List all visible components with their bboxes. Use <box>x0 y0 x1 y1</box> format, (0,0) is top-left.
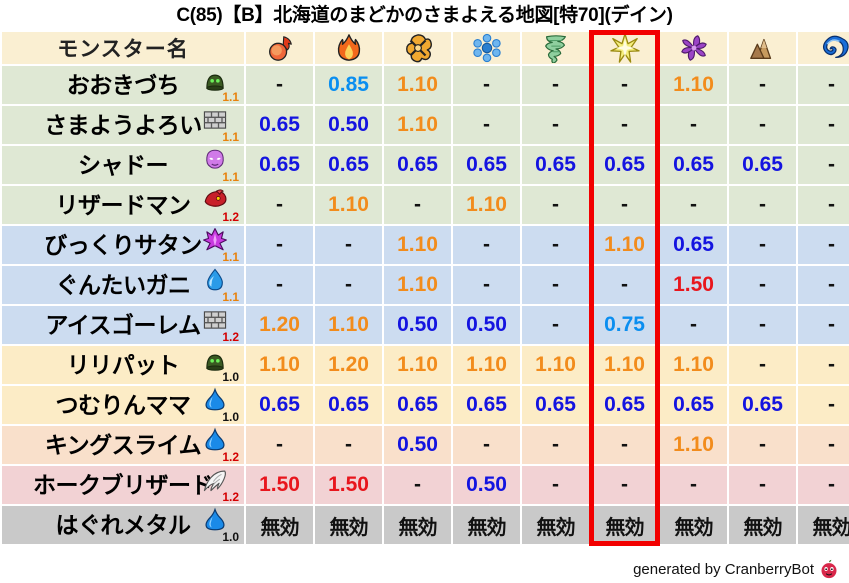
resistance-cell: 0.65 <box>591 386 658 424</box>
table-row: アイスゴーレム1.21.201.100.500.50-0.75--- <box>2 306 849 344</box>
resistance-cell: 0.50 <box>384 306 451 344</box>
resistance-value: 無効 <box>744 517 782 539</box>
resistance-cell: 0.65 <box>591 146 658 184</box>
resistance-cell: 1.10 <box>660 426 727 464</box>
monster-name-label: キングスライム <box>45 426 201 464</box>
resistance-value: - <box>345 433 352 456</box>
resistance-cell: 0.65 <box>729 386 796 424</box>
resistance-cell: 1.10 <box>315 186 382 224</box>
element-column-header-hyado[interactable] <box>453 32 520 64</box>
monster-name-cell[interactable]: リザードマン1.2 <box>2 186 244 224</box>
resistance-value: - <box>552 73 559 96</box>
resistance-value: - <box>828 353 835 376</box>
resistance-cell: 1.10 <box>315 306 382 344</box>
resistance-value: - <box>276 193 283 216</box>
resistance-value: - <box>828 473 835 496</box>
monster-name-header: モンスター名 <box>2 32 244 64</box>
resistance-value: - <box>621 273 628 296</box>
resistance-cell: - <box>522 466 589 504</box>
element-column-header-gira[interactable] <box>315 32 382 64</box>
resistance-value: 0.65 <box>397 153 438 176</box>
resistance-cell: - <box>798 306 849 344</box>
resistance-value: 1.10 <box>397 73 438 96</box>
resistance-cell: - <box>453 266 520 304</box>
resistance-value: 0.65 <box>466 153 507 176</box>
resistance-cell: - <box>660 186 727 224</box>
resistance-value: 1.10 <box>604 353 645 376</box>
resistance-value: - <box>621 113 628 136</box>
resistance-cell: - <box>522 226 589 264</box>
resistance-cell: - <box>315 426 382 464</box>
resistance-cell: 1.10 <box>591 346 658 384</box>
resistance-cell: - <box>660 106 727 144</box>
resistance-cell: 0.65 <box>384 146 451 184</box>
resistance-cell: 無効 <box>453 506 520 544</box>
resistance-cell: 無効 <box>729 506 796 544</box>
resistance-cell: 0.65 <box>453 146 520 184</box>
monster-name-label: リリパット <box>67 346 180 384</box>
resistance-cell: 0.85 <box>315 66 382 104</box>
resistance-value: - <box>621 473 628 496</box>
resistance-value: - <box>345 273 352 296</box>
resistance-value: - <box>759 353 766 376</box>
table-row: ぐんたいガニ1.1--1.10---1.50-- <box>2 266 849 304</box>
resistance-cell: 0.65 <box>315 146 382 184</box>
family-multiplier: 1.1 <box>222 131 239 143</box>
table-body: モンスター名おおきづち1.1-0.851.10---1.10--さまようよろい1… <box>2 32 849 544</box>
resistance-value: - <box>552 273 559 296</box>
element-column-header-dein[interactable] <box>591 32 658 64</box>
resistance-value: 0.75 <box>604 313 645 336</box>
resistance-cell: - <box>798 386 849 424</box>
page-title: C(85)【B】北海道のまどかのさまよえる地図[特70](デイン) <box>0 0 849 30</box>
family-multiplier: 1.2 <box>222 211 239 223</box>
header-row: モンスター名 <box>2 32 849 64</box>
element-column-header-jiba[interactable] <box>729 32 796 64</box>
resistance-value: - <box>621 73 628 96</box>
resistance-cell: 1.10 <box>522 346 589 384</box>
resistance-cell: - <box>729 426 796 464</box>
element-column-header-merazoma[interactable] <box>798 32 849 64</box>
resistance-value: 0.50 <box>328 113 369 136</box>
resistance-value: 1.10 <box>673 353 714 376</box>
resistance-cell: 無効 <box>315 506 382 544</box>
resistance-cell: - <box>315 226 382 264</box>
resistance-value: - <box>276 73 283 96</box>
resistance-cell: - <box>591 106 658 144</box>
resistance-cell: - <box>522 106 589 144</box>
resistance-cell: 1.10 <box>384 266 451 304</box>
resistance-value: 無効 <box>537 517 575 539</box>
resistance-cell: 0.50 <box>315 106 382 144</box>
family-multiplier: 1.2 <box>222 491 239 503</box>
resistance-cell: - <box>591 426 658 464</box>
resistance-cell: 0.65 <box>246 146 313 184</box>
resistance-value: - <box>276 433 283 456</box>
table-row: シャドー1.10.650.650.650.650.650.650.650.65- <box>2 146 849 184</box>
cranberry-icon <box>819 559 839 579</box>
monster-name-cell[interactable]: つむりんママ1.0 <box>2 386 244 424</box>
resistance-cell: 無効 <box>660 506 727 544</box>
monster-name-label: はぐれメタル <box>56 506 191 544</box>
resistance-value: - <box>414 473 421 496</box>
table-row: さまようよろい1.10.650.501.10------ <box>2 106 849 144</box>
resistance-cell: 1.10 <box>453 186 520 224</box>
resistance-cell: - <box>246 226 313 264</box>
resistance-value: - <box>828 273 835 296</box>
resistance-cell: - <box>729 266 796 304</box>
resistance-value: - <box>621 433 628 456</box>
resistance-value: 1.10 <box>604 233 645 256</box>
resistance-value: - <box>759 313 766 336</box>
resistance-cell: 1.10 <box>384 346 451 384</box>
resistance-cell: - <box>729 186 796 224</box>
resistance-value: 1.10 <box>397 113 438 136</box>
resistance-value: 1.10 <box>397 273 438 296</box>
footer-credit: generated by CranberryBot <box>633 559 839 579</box>
snowflake-icon <box>470 33 504 63</box>
resistance-value: - <box>552 113 559 136</box>
resistance-cell: - <box>729 306 796 344</box>
monster-name-label: ぐんたいガニ <box>56 266 191 304</box>
resistance-value: - <box>483 233 490 256</box>
resistance-value: - <box>828 233 835 256</box>
monster-name-label: びっくりサタン <box>44 226 202 264</box>
resistance-cell: - <box>798 226 849 264</box>
footer-text: generated by CranberryBot <box>633 561 814 578</box>
resistance-cell: 0.65 <box>453 386 520 424</box>
resistance-cell: - <box>246 186 313 224</box>
monster-family-badge: 1.2 <box>200 427 240 463</box>
light-icon <box>608 33 642 63</box>
family-multiplier: 1.0 <box>222 411 239 423</box>
table-row: びっくりサタン1.1--1.10--1.100.65-- <box>2 226 849 264</box>
resistance-cell: - <box>384 186 451 224</box>
family-multiplier: 1.0 <box>222 371 239 383</box>
resistance-value: - <box>828 153 835 176</box>
resistance-cell: - <box>522 266 589 304</box>
resistance-value: - <box>483 433 490 456</box>
resistance-cell: - <box>522 426 589 464</box>
resistance-value: - <box>759 193 766 216</box>
resistance-value: - <box>483 113 490 136</box>
monster-name-cell[interactable]: キングスライム1.2 <box>2 426 244 464</box>
resistance-value: 0.65 <box>604 153 645 176</box>
resistance-value: 1.10 <box>673 73 714 96</box>
resistance-value: 1.50 <box>328 473 369 496</box>
monster-family-badge: 1.1 <box>200 147 240 183</box>
resistance-value: 0.65 <box>742 153 783 176</box>
resistance-value: 1.10 <box>466 193 507 216</box>
resistance-value: - <box>690 313 697 336</box>
resistance-cell: - <box>798 466 849 504</box>
resistance-cell: 無効 <box>384 506 451 544</box>
resistance-cell: - <box>246 426 313 464</box>
resistance-cell: - <box>798 426 849 464</box>
resistance-cell: - <box>729 226 796 264</box>
resistance-cell: 0.65 <box>660 146 727 184</box>
monster-name-cell[interactable]: びっくりサタン1.1 <box>2 226 244 264</box>
resistance-cell: 無効 <box>522 506 589 544</box>
monster-name-label: リザードマン <box>56 186 191 224</box>
monster-family-badge: 1.2 <box>200 187 240 223</box>
monster-family-badge: 1.1 <box>200 227 240 263</box>
monster-name-cell[interactable]: おおきづち1.1 <box>2 66 244 104</box>
resistance-value: - <box>828 393 835 416</box>
resistance-value: 1.20 <box>259 313 300 336</box>
resistance-cell: - <box>729 466 796 504</box>
monster-name-label: つむりんママ <box>56 386 191 424</box>
table-row: キングスライム1.2--0.50---1.10-- <box>2 426 849 464</box>
resistance-cell: 0.65 <box>315 386 382 424</box>
resistance-value: 無効 <box>330 517 368 539</box>
element-column-header-io[interactable] <box>384 32 451 64</box>
resistance-cell: - <box>591 266 658 304</box>
resistance-value: - <box>828 73 835 96</box>
monster-name-label: おおきづち <box>67 66 180 104</box>
resistance-cell: 1.50 <box>315 466 382 504</box>
resistance-cell: 0.50 <box>384 426 451 464</box>
monster-name-cell[interactable]: ぐんたいガニ1.1 <box>2 266 244 304</box>
resistance-cell: 無効 <box>246 506 313 544</box>
resistance-value: 0.65 <box>742 393 783 416</box>
resistance-cell: - <box>453 426 520 464</box>
resistance-cell: - <box>591 66 658 104</box>
resistance-cell: 1.10 <box>384 226 451 264</box>
resistance-value: - <box>759 273 766 296</box>
resistance-cell: - <box>522 306 589 344</box>
monster-name-cell[interactable]: リリパット1.0 <box>2 346 244 384</box>
resistance-value: 0.65 <box>259 393 300 416</box>
resistance-value: - <box>759 73 766 96</box>
resistance-cell: 1.10 <box>384 106 451 144</box>
tornado-icon <box>539 33 573 63</box>
resistance-cell: - <box>729 346 796 384</box>
resistance-value: 0.65 <box>535 153 576 176</box>
resistance-value: 無効 <box>261 517 299 539</box>
resistance-value: - <box>828 433 835 456</box>
earth-icon <box>746 33 780 63</box>
monster-name-cell[interactable]: はぐれメタル1.0 <box>2 506 244 544</box>
resistance-value: - <box>759 433 766 456</box>
family-multiplier: 1.2 <box>222 451 239 463</box>
monster-family-badge: 1.1 <box>200 107 240 143</box>
resistance-cell: - <box>384 466 451 504</box>
monster-family-badge: 1.2 <box>200 467 240 503</box>
resistance-value: 0.65 <box>328 153 369 176</box>
resistance-value: 0.65 <box>604 393 645 416</box>
resistance-value: - <box>828 113 835 136</box>
monster-family-badge: 1.0 <box>200 387 240 423</box>
resistance-cell: - <box>522 66 589 104</box>
resistance-cell: 0.75 <box>591 306 658 344</box>
resistance-cell: 1.10 <box>660 66 727 104</box>
resistance-cell: 0.65 <box>522 146 589 184</box>
resistance-cell: 1.20 <box>246 306 313 344</box>
resistance-value: - <box>345 233 352 256</box>
resistance-cell: 0.65 <box>660 226 727 264</box>
resistance-value: 0.65 <box>673 393 714 416</box>
resistance-value: - <box>414 193 421 216</box>
monster-name-label: さまようよろい <box>44 106 202 144</box>
resistance-cell: 1.10 <box>384 66 451 104</box>
resistance-cell: - <box>591 466 658 504</box>
resistance-value: 1.10 <box>397 233 438 256</box>
resistance-value: 1.10 <box>328 193 369 216</box>
resistance-cell: - <box>798 266 849 304</box>
resistance-value: - <box>276 273 283 296</box>
resistance-value: 1.10 <box>673 433 714 456</box>
resistance-cell: 0.65 <box>384 386 451 424</box>
resistance-cell: - <box>798 146 849 184</box>
resistance-value: - <box>276 233 283 256</box>
resistance-value: - <box>828 313 835 336</box>
resistance-cell: - <box>798 66 849 104</box>
monster-family-badge: 1.1 <box>200 267 240 303</box>
resistance-value: 1.10 <box>466 353 507 376</box>
monster-name-label: シャドー <box>78 146 168 184</box>
flame-icon <box>332 33 366 63</box>
resistance-cell: - <box>246 266 313 304</box>
resistance-cell: 0.65 <box>522 386 589 424</box>
table-row: リリパット1.01.101.201.101.101.101.101.10-- <box>2 346 849 384</box>
resistance-value: 0.65 <box>535 393 576 416</box>
resistance-table: モンスター名おおきづち1.1-0.851.10---1.10--さまようよろい1… <box>0 30 849 546</box>
resistance-cell: 1.10 <box>453 346 520 384</box>
resistance-value: 0.85 <box>328 73 369 96</box>
monster-name-label: アイスゴーレム <box>45 306 200 344</box>
resistance-cell: - <box>798 106 849 144</box>
table-row: ホークブリザード1.21.501.50-0.50----- <box>2 466 849 504</box>
resistance-cell: 無効 <box>798 506 849 544</box>
resistance-matrix: モンスター名おおきづち1.1-0.851.10---1.10--さまようよろい1… <box>0 30 849 546</box>
resistance-value: - <box>552 313 559 336</box>
family-multiplier: 1.0 <box>222 531 239 543</box>
resistance-value: - <box>552 473 559 496</box>
resistance-cell: - <box>729 66 796 104</box>
monster-name-cell[interactable]: シャドー1.1 <box>2 146 244 184</box>
resistance-cell: - <box>660 466 727 504</box>
resistance-cell: 無効 <box>591 506 658 544</box>
resistance-value: - <box>690 113 697 136</box>
table-row: はぐれメタル1.0無効無効無効無効無効無効無効無効無効 <box>2 506 849 544</box>
monster-name-cell[interactable]: さまようよろい1.1 <box>2 106 244 144</box>
resistance-cell: 0.65 <box>729 146 796 184</box>
table-row: つむりんママ1.00.650.650.650.650.650.650.650.6… <box>2 386 849 424</box>
resistance-cell: - <box>729 106 796 144</box>
table-row: リザードマン1.2-1.10-1.10----- <box>2 186 849 224</box>
resistance-cell: - <box>798 346 849 384</box>
resistance-cell: - <box>591 186 658 224</box>
resistance-value: 0.65 <box>259 153 300 176</box>
resistance-cell: 1.20 <box>315 346 382 384</box>
resistance-cell: - <box>522 186 589 224</box>
resistance-cell: 1.10 <box>246 346 313 384</box>
resistance-cell: - <box>798 186 849 224</box>
resistance-value: - <box>759 233 766 256</box>
resistance-value: - <box>621 193 628 216</box>
explosion-icon <box>401 33 435 63</box>
resistance-value: - <box>759 113 766 136</box>
resistance-value: 1.10 <box>328 313 369 336</box>
resistance-value: 1.10 <box>535 353 576 376</box>
resistance-value: 0.65 <box>466 393 507 416</box>
resistance-cell: 0.50 <box>453 466 520 504</box>
family-multiplier: 1.1 <box>222 91 239 103</box>
family-multiplier: 1.2 <box>222 331 239 343</box>
resistance-value: - <box>552 433 559 456</box>
monster-name-cell[interactable]: ホークブリザード1.2 <box>2 466 244 504</box>
resistance-cell: 0.65 <box>246 106 313 144</box>
element-column-header-bagi[interactable] <box>522 32 589 64</box>
monster-family-badge: 1.0 <box>200 347 240 383</box>
resistance-cell: 0.65 <box>246 386 313 424</box>
resistance-cell: - <box>453 226 520 264</box>
resistance-value: 0.50 <box>397 433 438 456</box>
resistance-value: 1.20 <box>328 353 369 376</box>
resistance-value: 1.50 <box>673 273 714 296</box>
resistance-value: 1.10 <box>397 353 438 376</box>
resistance-value: - <box>552 233 559 256</box>
resistance-cell: - <box>453 66 520 104</box>
resistance-cell: - <box>315 266 382 304</box>
resistance-value: 無効 <box>468 517 506 539</box>
resistance-value: 0.50 <box>466 313 507 336</box>
family-multiplier: 1.1 <box>222 171 239 183</box>
resistance-value: - <box>483 73 490 96</box>
wave-icon <box>815 33 849 63</box>
resistance-value: 1.50 <box>259 473 300 496</box>
element-column-header-meragi[interactable] <box>246 32 313 64</box>
resistance-cell: 1.50 <box>246 466 313 504</box>
resistance-cell: 0.65 <box>660 386 727 424</box>
resistance-cell: - <box>660 306 727 344</box>
family-multiplier: 1.1 <box>222 291 239 303</box>
resistance-value: 0.65 <box>673 233 714 256</box>
resistance-value: 0.65 <box>328 393 369 416</box>
resistance-cell: 0.50 <box>453 306 520 344</box>
monster-family-badge: 1.0 <box>200 507 240 543</box>
resistance-value: 無効 <box>606 517 644 539</box>
monster-name-label: ホークブリザード <box>33 466 213 504</box>
resistance-value: 無効 <box>399 517 437 539</box>
monster-name-cell[interactable]: アイスゴーレム1.2 <box>2 306 244 344</box>
fireball-icon <box>263 33 297 63</box>
resistance-cell: - <box>453 106 520 144</box>
resistance-cell: - <box>246 66 313 104</box>
resistance-value: - <box>759 473 766 496</box>
resistance-value: 0.50 <box>466 473 507 496</box>
resistance-value: 無効 <box>813 517 849 539</box>
resistance-value: - <box>690 193 697 216</box>
element-column-header-dorma[interactable] <box>660 32 727 64</box>
table-row: おおきづち1.1-0.851.10---1.10-- <box>2 66 849 104</box>
resistance-value: 1.10 <box>259 353 300 376</box>
resistance-value: 0.65 <box>259 113 300 136</box>
resistance-cell: 1.10 <box>591 226 658 264</box>
resistance-cell: 1.10 <box>660 346 727 384</box>
resistance-value: 0.50 <box>397 313 438 336</box>
dark-icon <box>677 33 711 63</box>
resistance-value: 無効 <box>675 517 713 539</box>
resistance-value: - <box>483 273 490 296</box>
resistance-cell: 1.50 <box>660 266 727 304</box>
family-multiplier: 1.1 <box>222 251 239 263</box>
monster-family-badge: 1.2 <box>200 307 240 343</box>
resistance-value: - <box>690 473 697 496</box>
resistance-value: 0.65 <box>673 153 714 176</box>
resistance-value: - <box>828 193 835 216</box>
